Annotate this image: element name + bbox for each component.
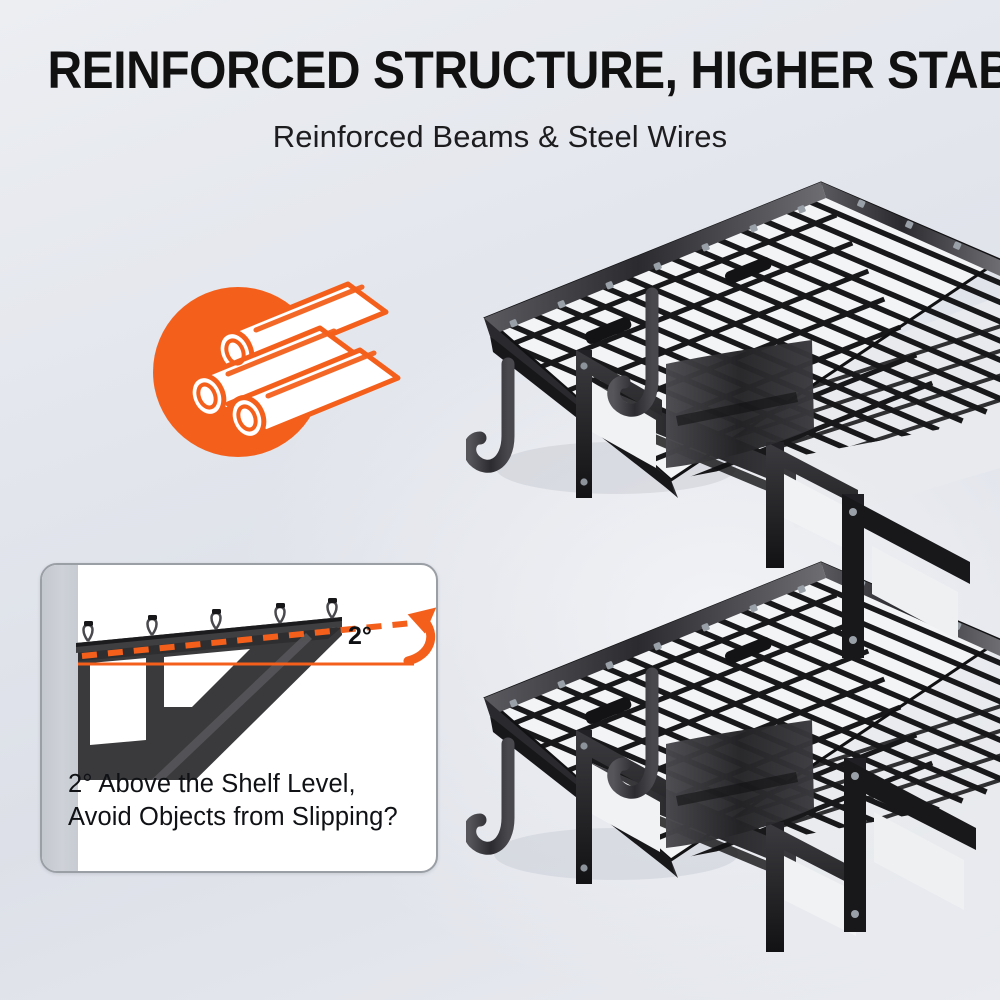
high-quality-metal-badge: High-quality Metal xyxy=(150,278,420,493)
tilt-diagram-art xyxy=(42,565,438,780)
tilt-angle-diagram-card: 2° 2° Above the Shelf Level, Avoid Objec… xyxy=(40,563,438,873)
page-subtitle: Reinforced Beams & Steel Wires xyxy=(0,118,1000,155)
caption-line-1: 2° Above the Shelf Level, xyxy=(68,768,418,801)
product-feature-banner: REINFORCED STRUCTURE, HIGHER STABILITY R… xyxy=(0,0,1000,1000)
page-title: REINFORCED STRUCTURE, HIGHER STABILITY xyxy=(48,44,953,97)
angle-value-label: 2° xyxy=(348,622,372,651)
diagram-caption: 2° Above the Shelf Level, Avoid Objects … xyxy=(68,768,418,834)
j-hook-left xyxy=(470,744,508,848)
rear-tier-bracket-upper xyxy=(830,488,1000,698)
metal-pipes-icon xyxy=(150,278,420,478)
j-hook-left xyxy=(470,364,508,466)
rear-tier-bracket-lower xyxy=(832,752,1000,972)
rotation-arrow-icon xyxy=(408,597,438,661)
caption-line-2: Avoid Objects from Slipping? xyxy=(68,801,418,834)
